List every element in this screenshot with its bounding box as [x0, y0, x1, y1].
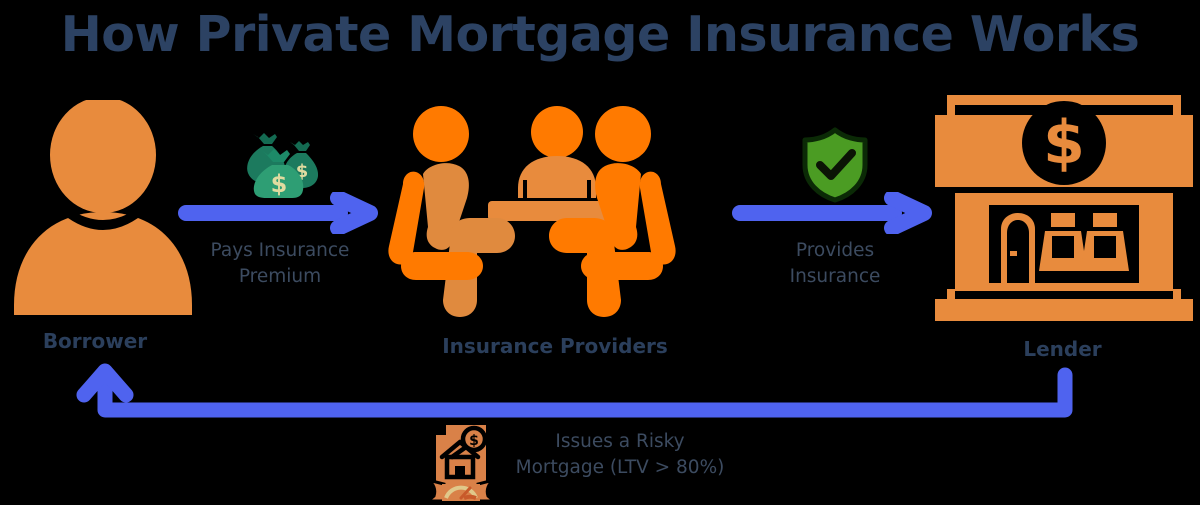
caption-line-2: Premium [180, 264, 380, 290]
page-title: How Private Mortgage Insurance Works [0, 6, 1200, 63]
arrow-borrower-to-providers [178, 192, 380, 234]
caption-issues-mortgage: Issues a Risky Mortgage (LTV > 80%) [490, 429, 750, 482]
caption-line-2: Insurance [740, 264, 930, 290]
svg-text:$: $ [469, 433, 479, 449]
node-label-borrower: Borrower [0, 329, 190, 353]
caption-line-1: Issues a Risky [490, 429, 750, 455]
caption-line-1: Pays Insurance [180, 238, 380, 264]
risky-mortgage-document-icon: $ [424, 422, 498, 501]
person-silhouette-icon [8, 100, 198, 315]
bank-building-icon: $ [933, 93, 1195, 323]
arrow-providers-to-lender [732, 192, 934, 234]
svg-text:$: $ [1043, 108, 1085, 178]
money-bags-icon: $ $ [236, 121, 324, 198]
arrow-lender-to-borrower [60, 355, 1130, 435]
conference-meeting-icon [385, 100, 730, 322]
infographic-canvas: How Private Mortgage Insurance Works Bor… [0, 0, 1200, 501]
caption-line-2: Mortgage (LTV > 80%) [490, 455, 750, 481]
caption-pays-premium: Pays Insurance Premium [180, 238, 380, 291]
caption-provides-insurance: Provides Insurance [740, 238, 930, 291]
caption-line-1: Provides [740, 238, 930, 264]
